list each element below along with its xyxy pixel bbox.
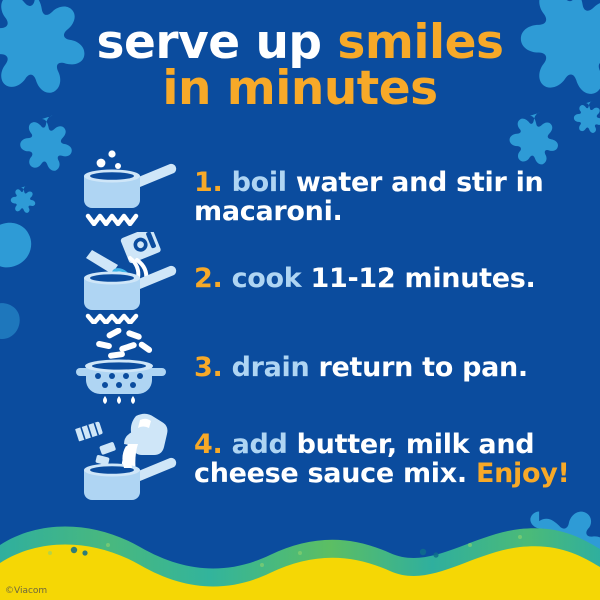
- saucepan-boiling-icon: [70, 148, 182, 226]
- headline-line-2: in minutes: [0, 66, 600, 112]
- recipe-poster: serve up smiles in minutes: [0, 0, 600, 600]
- list-item: 4. add butter, milk and cheese sauce mix…: [0, 410, 600, 502]
- step-verb: cook: [232, 263, 302, 294]
- step-text: 1. boil water and stir in macaroni.: [182, 148, 600, 226]
- step-highlight: Enjoy!: [476, 458, 570, 489]
- list-item: 3. drain return to pan.: [0, 328, 600, 408]
- step-number: 2.: [194, 263, 222, 294]
- step-text: 4. add butter, milk and cheese sauce mix…: [182, 410, 600, 488]
- list-item: 1. boil water and stir in macaroni.: [0, 148, 600, 228]
- step-description: 11-12 minutes.: [311, 263, 536, 294]
- list-item: 2. cook 11-12 minutes.: [0, 232, 600, 324]
- step-number: 4.: [194, 429, 222, 460]
- colander-drain-icon: [70, 328, 182, 406]
- bottom-wave-band: [0, 505, 600, 600]
- instruction-steps-list: 1. boil water and stir in macaroni.: [0, 148, 600, 502]
- pour-milk-butter-cheese-icon: [70, 410, 182, 502]
- page-title: serve up smiles in minutes: [0, 20, 600, 112]
- step-verb: drain: [232, 352, 310, 383]
- step-text: 2. cook 11-12 minutes.: [182, 232, 600, 293]
- pour-macaroni-stir-icon: [70, 232, 182, 324]
- step-text: 3. drain return to pan.: [182, 328, 600, 382]
- headline-line-1: serve up smiles: [0, 20, 600, 66]
- step-verb: boil: [232, 167, 287, 198]
- step-verb: add: [232, 429, 288, 460]
- step-number: 3.: [194, 352, 222, 383]
- step-description: return to pan.: [319, 352, 528, 383]
- copyright-text: ©Viacom: [5, 586, 47, 596]
- step-number: 1.: [194, 167, 222, 198]
